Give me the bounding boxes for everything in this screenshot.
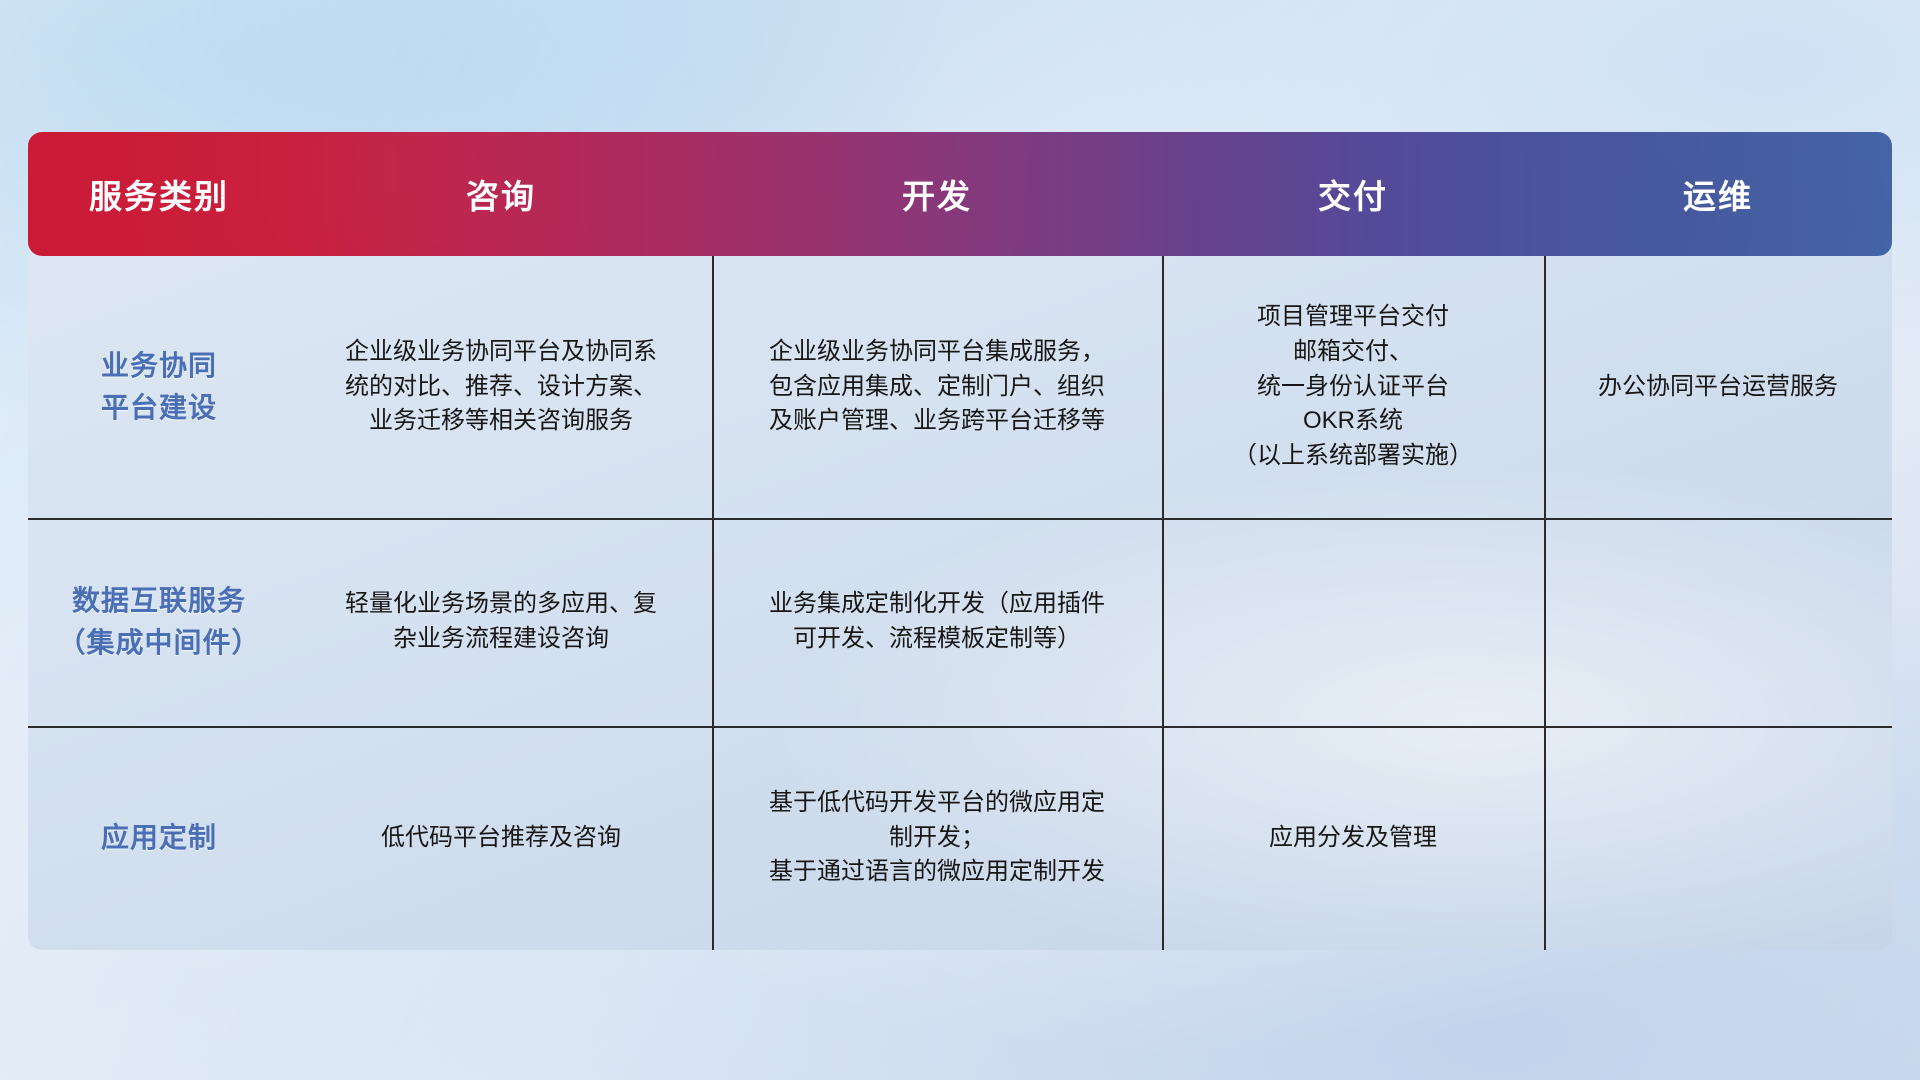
cell-row2-development: 业务集成定制化开发（应用插件 可开发、流程模板定制等） xyxy=(712,518,1162,726)
cell-row2-delivery xyxy=(1162,518,1544,726)
table-row: 数据互联服务 （集成中间件） 轻量化业务场景的多应用、复 杂业务流程建设咨询 业… xyxy=(28,518,1892,726)
row-label-business-collaboration: 业务协同 平台建设 xyxy=(28,256,290,518)
cell-row3-consulting: 低代码平台推荐及咨询 xyxy=(290,726,712,950)
service-matrix-table: 服务类别 咨询 开发 交付 运维 业务协同 平台建设 企业级业务协同平台及协同系… xyxy=(28,132,1892,950)
cell-row1-development: 企业级业务协同平台集成服务， 包含应用集成、定制门户、组织 及账户管理、业务跨平… xyxy=(712,256,1162,518)
row-label-app-customization: 应用定制 xyxy=(28,726,290,950)
table-header-row: 服务类别 咨询 开发 交付 运维 xyxy=(28,132,1892,256)
cell-row1-consulting: 企业级业务协同平台及协同系 统的对比、推荐、设计方案、 业务迁移等相关咨询服务 xyxy=(290,256,712,518)
column-divider-1 xyxy=(712,256,714,950)
row-divider-1 xyxy=(28,518,1892,520)
row-label-data-interconnect: 数据互联服务 （集成中间件） xyxy=(28,518,290,726)
column-divider-2 xyxy=(1162,256,1164,950)
cell-row1-delivery: 项目管理平台交付 邮箱交付、 统一身份认证平台 OKR系统 （以上系统部署实施） xyxy=(1162,256,1544,518)
cell-row2-operations xyxy=(1544,518,1892,726)
cell-row1-operations: 办公协同平台运营服务 xyxy=(1544,256,1892,518)
row-divider-2 xyxy=(28,726,1892,728)
cell-row3-development: 基于低代码开发平台的微应用定 制开发； 基于通过语言的微应用定制开发 xyxy=(712,726,1162,950)
cell-row3-delivery: 应用分发及管理 xyxy=(1162,726,1544,950)
table-row: 业务协同 平台建设 企业级业务协同平台及协同系 统的对比、推荐、设计方案、 业务… xyxy=(28,256,1892,518)
table-header-cell-service-category: 服务类别 xyxy=(28,170,290,218)
column-divider-3 xyxy=(1544,256,1546,950)
table-body: 业务协同 平台建设 企业级业务协同平台及协同系 统的对比、推荐、设计方案、 业务… xyxy=(28,256,1892,950)
cell-row2-consulting: 轻量化业务场景的多应用、复 杂业务流程建设咨询 xyxy=(290,518,712,726)
table-row: 应用定制 低代码平台推荐及咨询 基于低代码开发平台的微应用定 制开发； 基于通过… xyxy=(28,726,1892,950)
cell-row3-operations xyxy=(1544,726,1892,950)
table-header-cell-operations: 运维 xyxy=(1544,170,1892,218)
table-header-cell-consulting: 咨询 xyxy=(290,170,712,218)
table-header-cell-development: 开发 xyxy=(712,170,1162,218)
table-header-cell-delivery: 交付 xyxy=(1162,170,1544,218)
